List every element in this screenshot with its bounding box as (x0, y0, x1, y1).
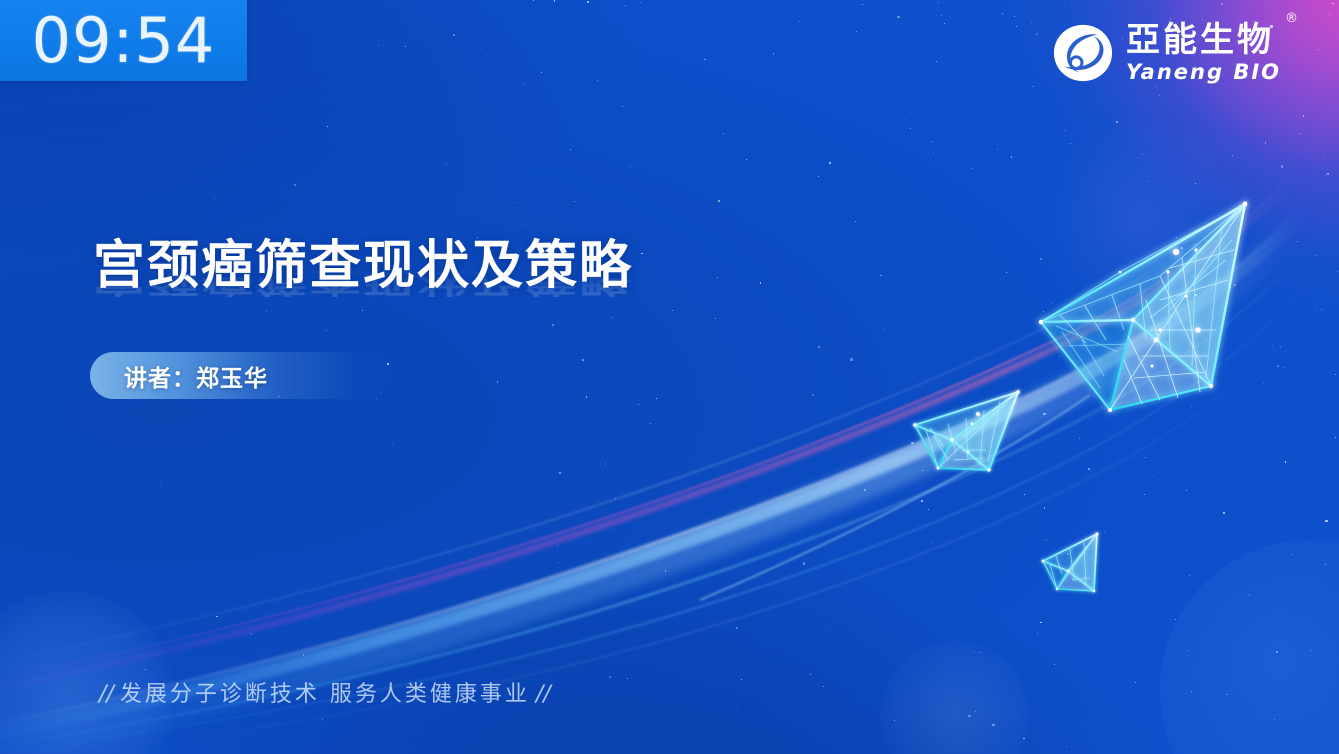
footer-slash-left: // (99, 682, 114, 707)
page-title-reflection: 宫颈癌筛查现状及策略 (93, 266, 813, 298)
speaker-badge: 讲者：郑玉华 (90, 352, 390, 399)
brand-name-en: Yaneng BIO (1126, 62, 1281, 83)
footer-slash-right: // (536, 682, 551, 707)
footer-slogan: //发展分子诊断技术 服务人类健康事业// (93, 676, 557, 708)
countdown-timer-value: 09:54 (32, 10, 216, 72)
swirl-nucleus-logo-icon (1052, 22, 1114, 84)
brand-logo: 亞能生物® Yaneng BIO (1052, 22, 1281, 84)
brand-name-cn: 亞能生物® (1126, 23, 1281, 57)
presentation-slide: 09:54 亞能生物® Yaneng BIO 宫颈癌筛查现状及策略 宫颈癌筛查现… (0, 0, 1339, 754)
speaker-badge-label: 讲者：郑玉华 (124, 359, 268, 393)
brand-logo-wordmark: 亞能生物® Yaneng BIO (1126, 23, 1281, 83)
title-block: 宫颈癌筛查现状及策略 宫颈癌筛查现状及策略 (93, 237, 813, 356)
footer-slogan-text: 发展分子诊断技术 服务人类健康事业 (120, 682, 530, 707)
countdown-timer[interactable]: 09:54 (0, 0, 247, 81)
registered-trademark-icon: ® (1285, 12, 1298, 25)
brand-name-cn-text: 亞能生物 (1126, 20, 1274, 60)
